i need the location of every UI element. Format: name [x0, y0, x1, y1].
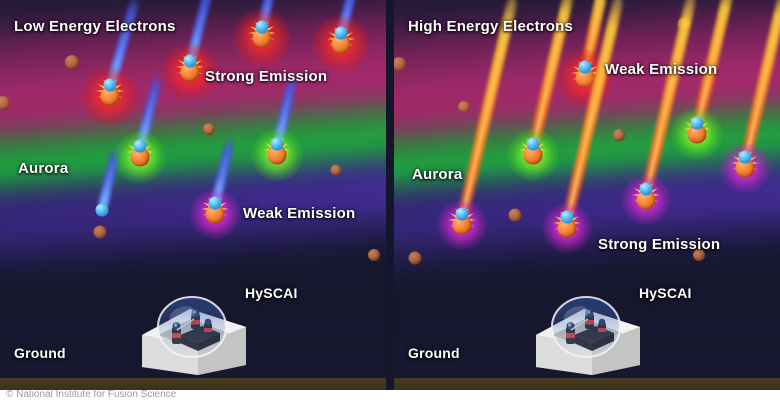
electron	[271, 138, 284, 151]
electron	[739, 151, 752, 164]
electron	[640, 183, 653, 196]
ground-strip	[394, 378, 780, 390]
label-strong-emission: Strong Emission	[205, 68, 327, 85]
free-atom	[65, 55, 79, 69]
label-hyscai: HySCAI	[245, 285, 298, 301]
footer-bar: © National Institute for Fusion Science	[0, 390, 780, 403]
free-atom	[368, 249, 380, 261]
electron	[561, 211, 574, 224]
panel-low-energy: Low Energy ElectronsStrong EmissionAuror…	[0, 0, 386, 390]
electron	[691, 117, 704, 130]
label-aurora: Aurora	[18, 160, 68, 177]
free-atom	[331, 165, 342, 176]
label-low-energy-electrons: Low Energy Electrons	[14, 18, 176, 35]
panel-high-energy: High Energy ElectronsWeak EmissionAurora…	[394, 0, 780, 390]
electron	[209, 197, 222, 210]
free-atom	[458, 101, 470, 113]
label-aurora: Aurora	[412, 166, 462, 183]
electron	[256, 21, 269, 34]
electron	[104, 79, 117, 92]
label-weak-emission: Weak Emission	[605, 61, 717, 78]
panel-divider	[386, 0, 394, 390]
label-ground: Ground	[408, 345, 460, 361]
free-atom	[203, 123, 215, 135]
free-atom	[613, 129, 625, 141]
electron	[456, 208, 469, 221]
electron	[527, 138, 540, 151]
electron	[134, 140, 147, 153]
copyright-credit: © National Institute for Fusion Science	[6, 389, 176, 400]
electron	[579, 61, 592, 74]
electron	[335, 27, 348, 40]
free-atom	[509, 209, 522, 222]
label-hyscai: HySCAI	[639, 285, 692, 301]
free-atom	[94, 226, 107, 239]
label-weak-emission: Weak Emission	[243, 205, 355, 222]
free-atom	[678, 18, 691, 31]
electron	[96, 204, 109, 217]
electron	[184, 55, 197, 68]
label-strong-emission: Strong Emission	[598, 236, 720, 253]
label-ground: Ground	[14, 345, 66, 361]
label-high-energy-electrons: High Energy Electrons	[408, 18, 573, 35]
aurora-hyscai-figure: Low Energy ElectronsStrong EmissionAuror…	[0, 0, 780, 403]
free-atom	[409, 252, 422, 265]
